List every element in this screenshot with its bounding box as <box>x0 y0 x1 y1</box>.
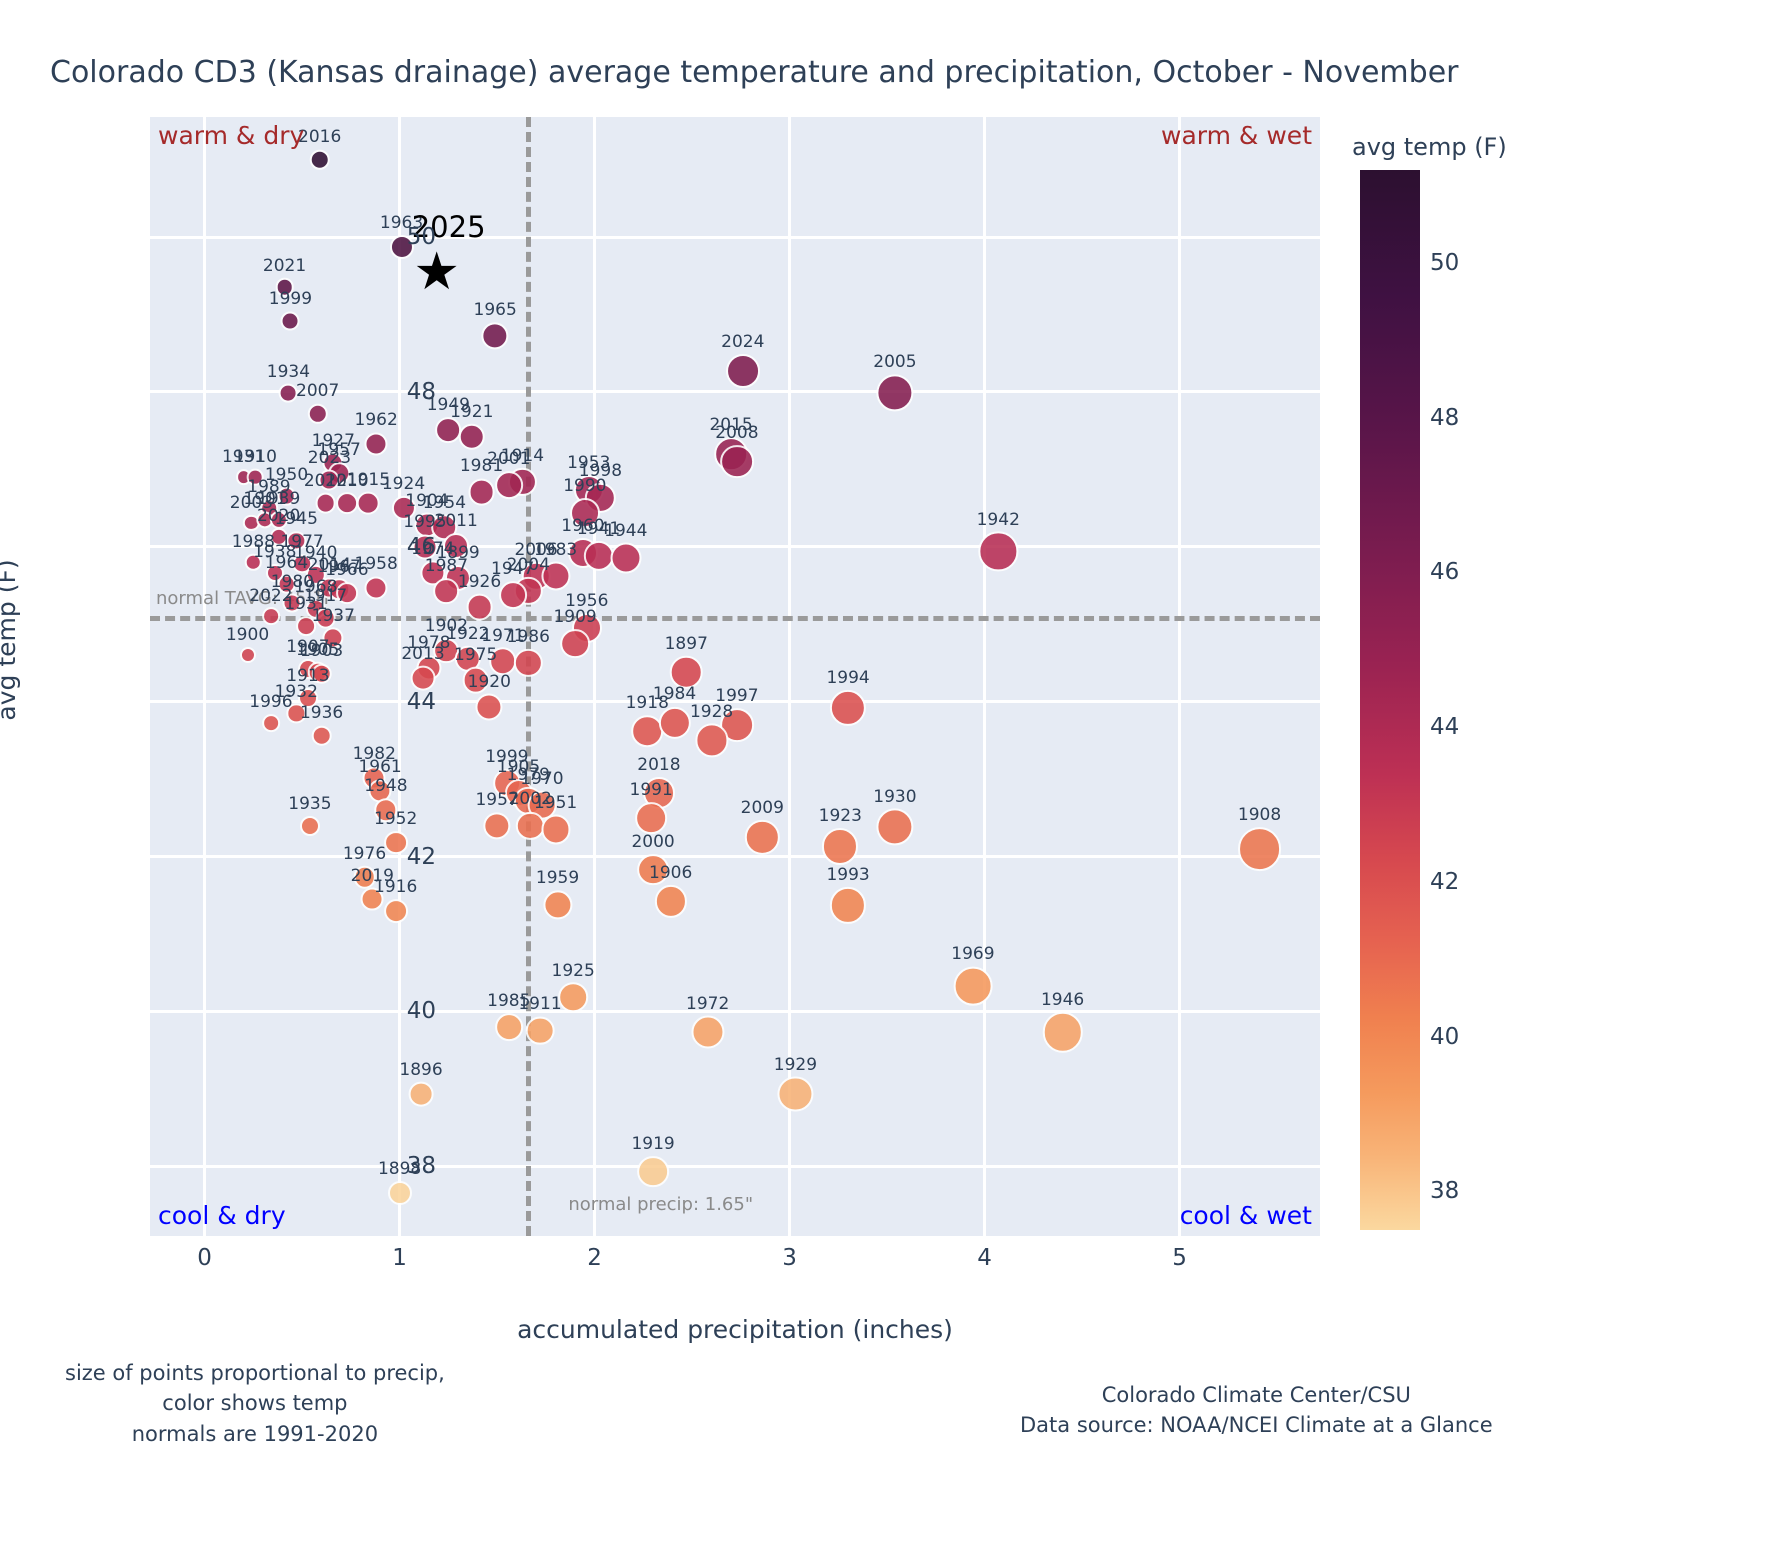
data-point-label: 1942 <box>977 510 1020 530</box>
data-point-label: 1916 <box>374 877 417 897</box>
data-point-label: 1897 <box>665 634 708 654</box>
gridline-horizontal <box>150 855 1320 858</box>
footnote-line: Colorado Climate Center/CSU <box>1020 1380 1493 1410</box>
normal-precip-label: normal precip: 1.65" <box>568 1194 753 1215</box>
data-point[interactable] <box>300 816 320 836</box>
data-point[interactable] <box>560 629 590 659</box>
x-axis-tick: 4 <box>977 1245 992 1271</box>
data-point-label: 1948 <box>364 776 407 796</box>
data-point-label: 1964 <box>265 553 308 573</box>
gridline-horizontal <box>150 1165 1320 1168</box>
data-point[interactable] <box>610 543 641 574</box>
data-point[interactable] <box>876 809 913 846</box>
y-axis-tick: 44 <box>407 689 436 715</box>
colorbar-tick: 50 <box>1430 250 1459 276</box>
data-point-label: 1903 <box>300 641 343 661</box>
data-point-label: 1965 <box>474 300 517 320</box>
data-point[interactable] <box>384 899 408 923</box>
data-point-label: 2000 <box>631 832 674 852</box>
data-point-label: 1935 <box>288 794 331 814</box>
data-point[interactable] <box>514 649 542 677</box>
data-point-label: 1946 <box>1041 990 1084 1010</box>
gridline-vertical <box>1178 117 1181 1236</box>
data-point[interactable] <box>655 885 687 917</box>
data-point-label: 1925 <box>552 961 595 981</box>
data-point[interactable] <box>495 1013 523 1041</box>
data-point[interactable] <box>466 594 493 621</box>
data-point-label: 1908 <box>1238 805 1281 825</box>
data-point-label: 1896 <box>399 1060 442 1080</box>
data-point-label: 2023 <box>308 448 351 468</box>
data-point[interactable] <box>954 966 993 1005</box>
data-point[interactable] <box>658 706 690 738</box>
colorbar-tick: 38 <box>1430 1178 1459 1204</box>
colorbar-tick: 40 <box>1430 1024 1459 1050</box>
y-axis-tick: 48 <box>407 379 436 405</box>
data-point[interactable] <box>979 532 1018 571</box>
y-axis-tick: 50 <box>407 224 436 250</box>
data-point-label: 2009 <box>741 798 784 818</box>
gridline-vertical <box>593 117 596 1236</box>
data-point-label: 1900 <box>226 625 269 645</box>
quadrant-label-cool-wet: cool & wet <box>1180 1201 1312 1230</box>
data-point-label: 1909 <box>553 607 596 627</box>
data-point[interactable] <box>365 432 388 455</box>
data-point[interactable] <box>778 1077 813 1112</box>
data-point-label: 1930 <box>873 787 916 807</box>
x-axis-tick: 0 <box>197 1245 212 1271</box>
data-point[interactable] <box>830 887 866 923</box>
data-point[interactable] <box>558 983 588 1013</box>
data-point-label: 1928 <box>690 702 733 722</box>
data-point-label: 1919 <box>631 1134 674 1154</box>
data-point[interactable] <box>1238 827 1282 871</box>
data-point-label: 1991 <box>630 780 673 800</box>
data-point[interactable] <box>262 714 280 732</box>
data-point-label: 1951 <box>534 793 577 813</box>
data-point[interactable] <box>541 815 570 844</box>
data-point[interactable] <box>281 311 300 330</box>
colorbar-tick: 42 <box>1430 869 1459 895</box>
data-point[interactable] <box>434 578 460 604</box>
data-point[interactable] <box>822 828 858 864</box>
data-point[interactable] <box>307 403 327 423</box>
data-point[interactable] <box>384 831 408 855</box>
data-point-label: 1911 <box>518 994 561 1014</box>
data-point-label: 1945 <box>275 509 318 529</box>
data-point[interactable] <box>526 1016 555 1045</box>
data-point-label: 2018 <box>637 755 680 775</box>
x-axis-tick: 2 <box>587 1245 602 1271</box>
data-point[interactable] <box>691 1016 724 1049</box>
gridline-vertical <box>983 117 986 1236</box>
data-point[interactable] <box>468 478 495 505</box>
data-point-label: 2024 <box>721 332 764 352</box>
footnote-line: size of points proportional to precip, <box>65 1358 445 1388</box>
data-point[interactable] <box>637 1156 669 1188</box>
data-point[interactable] <box>409 1082 434 1107</box>
data-point-label: 1936 <box>300 703 343 723</box>
data-point-label: 1999 <box>269 289 312 309</box>
data-point-label: 1921 <box>450 402 493 422</box>
scatter-plot-area: normal precip: 1.65" normal TAVG: 45.1F … <box>150 117 1320 1236</box>
data-point-label: 1976 <box>343 844 386 864</box>
data-point-label: 1972 <box>686 994 729 1014</box>
data-point[interactable] <box>876 374 913 411</box>
x-axis-label: accumulated precipitation (inches) <box>517 1315 953 1344</box>
x-axis-tick: 3 <box>782 1245 797 1271</box>
data-point-label: 1996 <box>249 692 292 712</box>
data-point-label: 1981 <box>460 456 503 476</box>
y-axis-tick: 46 <box>407 534 436 560</box>
data-point-label: 1952 <box>374 809 417 829</box>
data-point-label: 1961 <box>358 757 401 777</box>
data-point-label: 1954 <box>423 493 466 513</box>
data-point[interactable] <box>720 445 754 479</box>
data-point-label: 1920 <box>468 672 511 692</box>
colorbar-tick: 44 <box>1430 714 1459 740</box>
data-point-label: 1970 <box>520 769 563 789</box>
gridline-horizontal <box>150 236 1320 239</box>
data-point-label: 1937 <box>312 606 355 626</box>
data-point[interactable] <box>635 802 667 834</box>
data-point-label: 1962 <box>355 410 398 430</box>
colorbar-gradient <box>1360 170 1420 1230</box>
y-axis-label: avg temp (F) <box>0 559 21 720</box>
x-axis-tick: 1 <box>392 1245 407 1271</box>
data-point-label: 1994 <box>826 668 869 688</box>
data-point[interactable] <box>279 384 298 403</box>
data-point-label: 2005 <box>873 352 916 372</box>
data-point[interactable] <box>481 322 508 349</box>
data-point[interactable] <box>1042 1012 1082 1052</box>
gridline-vertical <box>203 117 206 1236</box>
highlight-star-icon: ★ <box>413 246 460 298</box>
data-point[interactable] <box>336 493 358 515</box>
data-point[interactable] <box>239 647 255 663</box>
colorbar-tick: 46 <box>1430 559 1459 585</box>
x-axis-tick: 5 <box>1172 1245 1187 1271</box>
data-point[interactable] <box>388 1181 412 1205</box>
data-point[interactable] <box>583 541 613 571</box>
data-point-label: 2007 <box>296 381 339 401</box>
data-point-label: 2008 <box>715 423 758 443</box>
y-axis-tick: 40 <box>407 998 436 1024</box>
data-point-label: 2011 <box>435 511 478 531</box>
data-point-label: 1906 <box>649 863 692 883</box>
data-point-label: 1993 <box>826 865 869 885</box>
data-point[interactable] <box>695 724 728 757</box>
gridline-horizontal <box>150 1010 1320 1013</box>
data-point-label: 1926 <box>458 572 501 592</box>
footnote-line: normals are 1991-2020 <box>65 1419 445 1449</box>
data-point[interactable] <box>262 608 280 626</box>
data-point-label: 1929 <box>774 1055 817 1075</box>
data-point-label: 1923 <box>819 806 862 826</box>
footnote-line: color shows temp <box>65 1388 445 1418</box>
data-point-label: 1934 <box>267 362 310 382</box>
data-point[interactable] <box>315 493 336 514</box>
y-axis-tick: 42 <box>407 844 436 870</box>
data-point[interactable] <box>476 694 503 721</box>
quadrant-label-warm-dry: warm & dry <box>158 121 304 150</box>
data-point-label: 2021 <box>263 256 306 276</box>
data-point-label: 1944 <box>604 521 647 541</box>
data-point-label: 1990 <box>563 476 606 496</box>
data-point[interactable] <box>745 820 779 854</box>
footnote-right: Colorado Climate Center/CSUData source: … <box>1020 1380 1493 1441</box>
colorbar-title: avg temp (F) <box>1352 133 1507 161</box>
page-title: Colorado CD3 (Kansas drainage) average t… <box>50 55 1550 90</box>
data-point[interactable] <box>499 581 527 609</box>
quadrant-label-cool-dry: cool & dry <box>158 1201 286 1230</box>
quadrant-label-warm-wet: warm & wet <box>1161 121 1312 150</box>
data-point[interactable] <box>411 666 436 691</box>
data-point[interactable] <box>311 725 332 746</box>
data-point-label: 2016 <box>298 127 341 147</box>
colorbar-tick: 48 <box>1430 405 1459 431</box>
data-point[interactable] <box>458 424 485 451</box>
data-point[interactable] <box>726 354 760 388</box>
data-point-label: 2013 <box>401 644 444 664</box>
data-point-label: 1910 <box>234 447 277 467</box>
data-point[interactable] <box>543 890 572 919</box>
data-point[interactable] <box>516 811 544 839</box>
data-point-label: 1975 <box>454 645 497 665</box>
data-point-label: 1969 <box>951 944 994 964</box>
data-point-label: 1986 <box>507 627 550 647</box>
data-point-label: 1959 <box>536 868 579 888</box>
footnote-line: Data source: NOAA/NCEI Climate at a Glan… <box>1020 1410 1493 1440</box>
data-point[interactable] <box>830 690 866 726</box>
y-axis-tick: 38 <box>407 1153 436 1179</box>
footnote-left: size of points proportional to precip,co… <box>65 1358 445 1449</box>
data-point[interactable] <box>309 149 330 170</box>
data-point[interactable] <box>357 492 380 515</box>
data-point[interactable] <box>483 812 510 839</box>
